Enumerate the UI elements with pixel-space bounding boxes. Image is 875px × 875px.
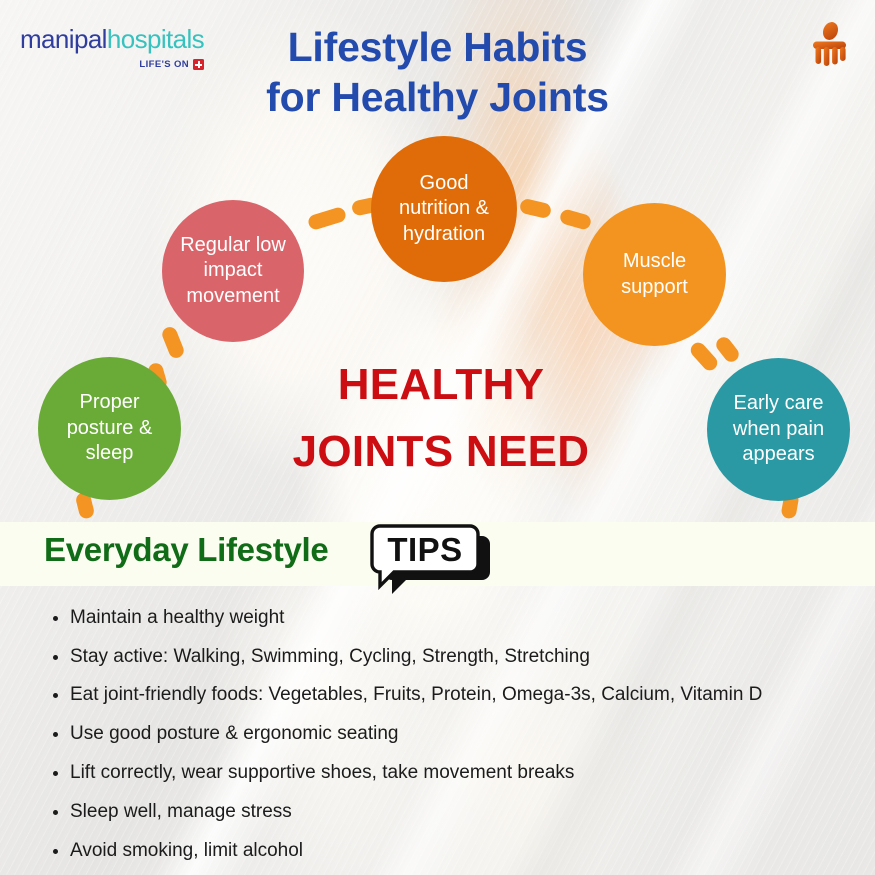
bubble-early-care-when-pain-appears[interactable]: Early care when pain appears [707,358,850,501]
center-headline-line-1: HEALTHY [276,352,606,419]
list-item: Sleep well, manage stress [46,793,845,832]
connector-dash [559,208,593,231]
tips-banner-heading: Everyday Lifestyle [44,531,328,569]
list-item-text: Eat joint-friendly foods: Vegetables, Fr… [70,683,762,707]
bubble-label: Regular low impact movement [176,233,290,310]
tips-speech-bubble-badge: TIPS [370,524,492,596]
center-headline: HEALTHY JOINTS NEED [276,352,606,486]
list-item: See a doctor if pain lasts, swells, or l… [46,871,845,875]
bullet-dot-icon [53,732,58,737]
bullet-dot-icon [53,849,58,854]
bubble-label: Good nutrition & hydration [385,171,503,248]
joint-bone-icon [801,18,857,74]
bubble-label: Early care when pain appears [721,391,836,468]
list-item: Eat joint-friendly foods: Vegetables, Fr… [46,676,845,715]
center-headline-line-2: JOINTS NEED [276,419,606,486]
tips-badge-label: TIPS [387,531,462,568]
infographic-poster: manipalhospitals LIFE'S ON Lifestyle Hab… [0,0,875,875]
tips-list: Maintain a healthy weight Stay active: W… [46,598,845,875]
bullet-dot-icon [53,693,58,698]
bubble-label: Muscle support [597,249,712,300]
list-item-text: Use good posture & ergonomic seating [70,722,398,746]
list-item: Use good posture & ergonomic seating [46,715,845,754]
bullet-dot-icon [53,655,58,660]
page-title: Lifestyle Habits for Healthy Joints [0,22,875,123]
page-title-line-1: Lifestyle Habits [0,22,875,72]
list-item-text: Lift correctly, wear supportive shoes, t… [70,761,574,785]
connector-dash [307,206,348,231]
bullet-dot-icon [53,771,58,776]
bubble-good-nutrition-hydration[interactable]: Good nutrition & hydration [371,136,517,282]
list-item-text: Stay active: Walking, Swimming, Cycling,… [70,645,590,669]
list-item: Maintain a healthy weight [46,598,845,637]
list-item-text: Maintain a healthy weight [70,606,284,630]
list-item: Stay active: Walking, Swimming, Cycling,… [46,637,845,676]
list-item-text: Sleep well, manage stress [70,800,292,824]
connector-dash [160,325,186,360]
list-item: Avoid smoking, limit alcohol [46,832,845,871]
bullet-dot-icon [53,616,58,621]
page-title-line-2: for Healthy Joints [0,72,875,122]
connector-dash [519,198,553,220]
list-item-text: Avoid smoking, limit alcohol [70,839,303,863]
bubble-regular-low-impact-movement[interactable]: Regular low impact movement [162,200,304,342]
list-item: Lift correctly, wear supportive shoes, t… [46,754,845,793]
bubble-label: Proper posture & sleep [52,390,167,467]
bubble-muscle-support[interactable]: Muscle support [583,203,726,346]
connector-dash [713,334,741,365]
bullet-dot-icon [53,810,58,815]
bubble-proper-posture-sleep[interactable]: Proper posture & sleep [38,357,181,500]
